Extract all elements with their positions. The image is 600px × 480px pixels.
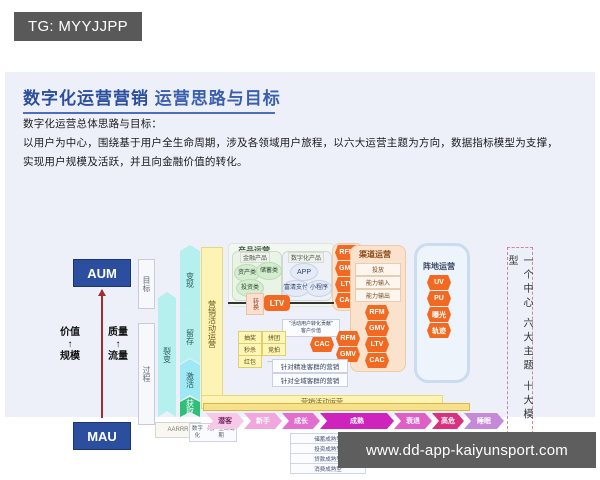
- activity-tag-4: 红包: [238, 355, 262, 368]
- conversion-line-right: [290, 302, 334, 304]
- value-note: "活动用户转化贡献" 客户价值: [282, 319, 340, 337]
- channel-metric-1: GMV: [365, 321, 389, 336]
- digital-item-0: APP: [290, 263, 318, 281]
- finance-item-1: 储蓄类: [256, 262, 282, 280]
- stage-2[interactable]: 成长: [282, 413, 320, 429]
- conversion-label: 转换: [246, 293, 264, 315]
- page-title: 数字化运营营销 运营思路与目标: [23, 84, 281, 109]
- conversion-ltv-chip: LTV: [264, 295, 290, 311]
- label-value: 价值: [60, 327, 80, 339]
- metric-aum: AUM: [73, 259, 131, 287]
- channel-metric-2: LTV: [365, 337, 389, 352]
- funnel-stage-2: 激活: [180, 359, 200, 401]
- arrow-up-icon: ↑: [60, 339, 80, 351]
- precision-marketing-tag: 针对精准客群的营销: [272, 359, 348, 373]
- title-sub: 运营思路与目标: [155, 89, 281, 108]
- title-underline: [23, 112, 275, 114]
- position-metric-1: PU: [427, 291, 451, 306]
- stage-3[interactable]: 成熟: [320, 413, 394, 429]
- funnel-stage-0: 变现: [180, 245, 200, 315]
- label-quality-traffic: 质量 ↑ 流量: [108, 327, 128, 363]
- label-scale: 规模: [60, 351, 80, 363]
- label-value-scale: 价值 ↑ 规模: [60, 327, 80, 363]
- stage-5[interactable]: 高危: [432, 413, 464, 429]
- label-quality: 质量: [108, 327, 128, 339]
- channel-row-0: 投放: [355, 263, 401, 276]
- marketing-rfm-chip: RFM: [336, 331, 360, 346]
- value-note-l1: "活动用户转化贡献": [289, 321, 333, 328]
- digital-group-label: 数字化产品: [288, 252, 324, 263]
- paragraph-2: 实现用户规模及活跃，并且向金融价值的转化。: [23, 155, 248, 169]
- stage-6[interactable]: 睡眠: [464, 413, 504, 429]
- channel-ops-title: 渠道运营: [359, 249, 391, 260]
- channel-metric-0: RFM: [365, 305, 389, 320]
- position-ops-title: 阵地运营: [423, 261, 455, 272]
- position-metric-3: 轨迹: [427, 323, 451, 338]
- channel-row-1: 能力输入: [355, 276, 401, 289]
- tag-process: 过程: [138, 323, 155, 425]
- lifecycle-caption-l1: 数字化: [190, 426, 205, 440]
- lifecycle-gold-bar: [203, 403, 470, 411]
- growth-arrow-icon: [101, 290, 103, 418]
- stage-0[interactable]: 潜客: [206, 413, 244, 429]
- position-metric-0: UV: [427, 275, 451, 290]
- footer-watermark: www.dd-app-kaiyunsport.com: [338, 432, 596, 468]
- paragraph-1: 以用户为中心，围绕基于用户全生命周期，涉及各领域用户旅程，以六大运营主题为方向，…: [23, 136, 558, 150]
- value-note-l2: 客户价值: [301, 328, 321, 335]
- digital-item-2: 小程序: [306, 280, 332, 297]
- funnel-outer-fission: 裂变: [158, 292, 176, 417]
- summary-text: 一个中心 六大主题 十大模型: [509, 255, 529, 435]
- position-metric-2: 曝光: [427, 307, 451, 322]
- conversion-line-left: [228, 302, 246, 304]
- metric-mau: MAU: [73, 422, 131, 450]
- title-main: 数字化运营营销: [23, 89, 149, 108]
- stage-4[interactable]: 衰退: [394, 413, 432, 429]
- channel-metric-3: CAC: [365, 353, 389, 368]
- paragraph-0: 数字化运营总体思路与目标：: [23, 117, 162, 131]
- label-traffic: 流量: [108, 351, 128, 363]
- channel-row-2: 能力输出: [355, 289, 401, 302]
- marketing-cac-chip: CAC: [310, 337, 334, 352]
- funnel-stage-3: 获取: [180, 397, 200, 417]
- arrow-up-icon-2: ↑: [108, 339, 128, 351]
- marketing-vertical-label: 营销活动运营: [201, 247, 223, 401]
- slide-card: 数字化运营营销 运营思路与目标 数字化运营总体思路与目标： 以用户为中心，围绕基…: [5, 72, 595, 417]
- stage-1[interactable]: 新手: [244, 413, 282, 429]
- tag-goal: 目标: [138, 259, 155, 309]
- global-marketing-tag: 针对全域客群的营销: [272, 373, 348, 387]
- funnel-stage-1: 留存: [180, 309, 200, 364]
- telegram-watermark-badge: TG: MYYJJPP: [14, 12, 142, 41]
